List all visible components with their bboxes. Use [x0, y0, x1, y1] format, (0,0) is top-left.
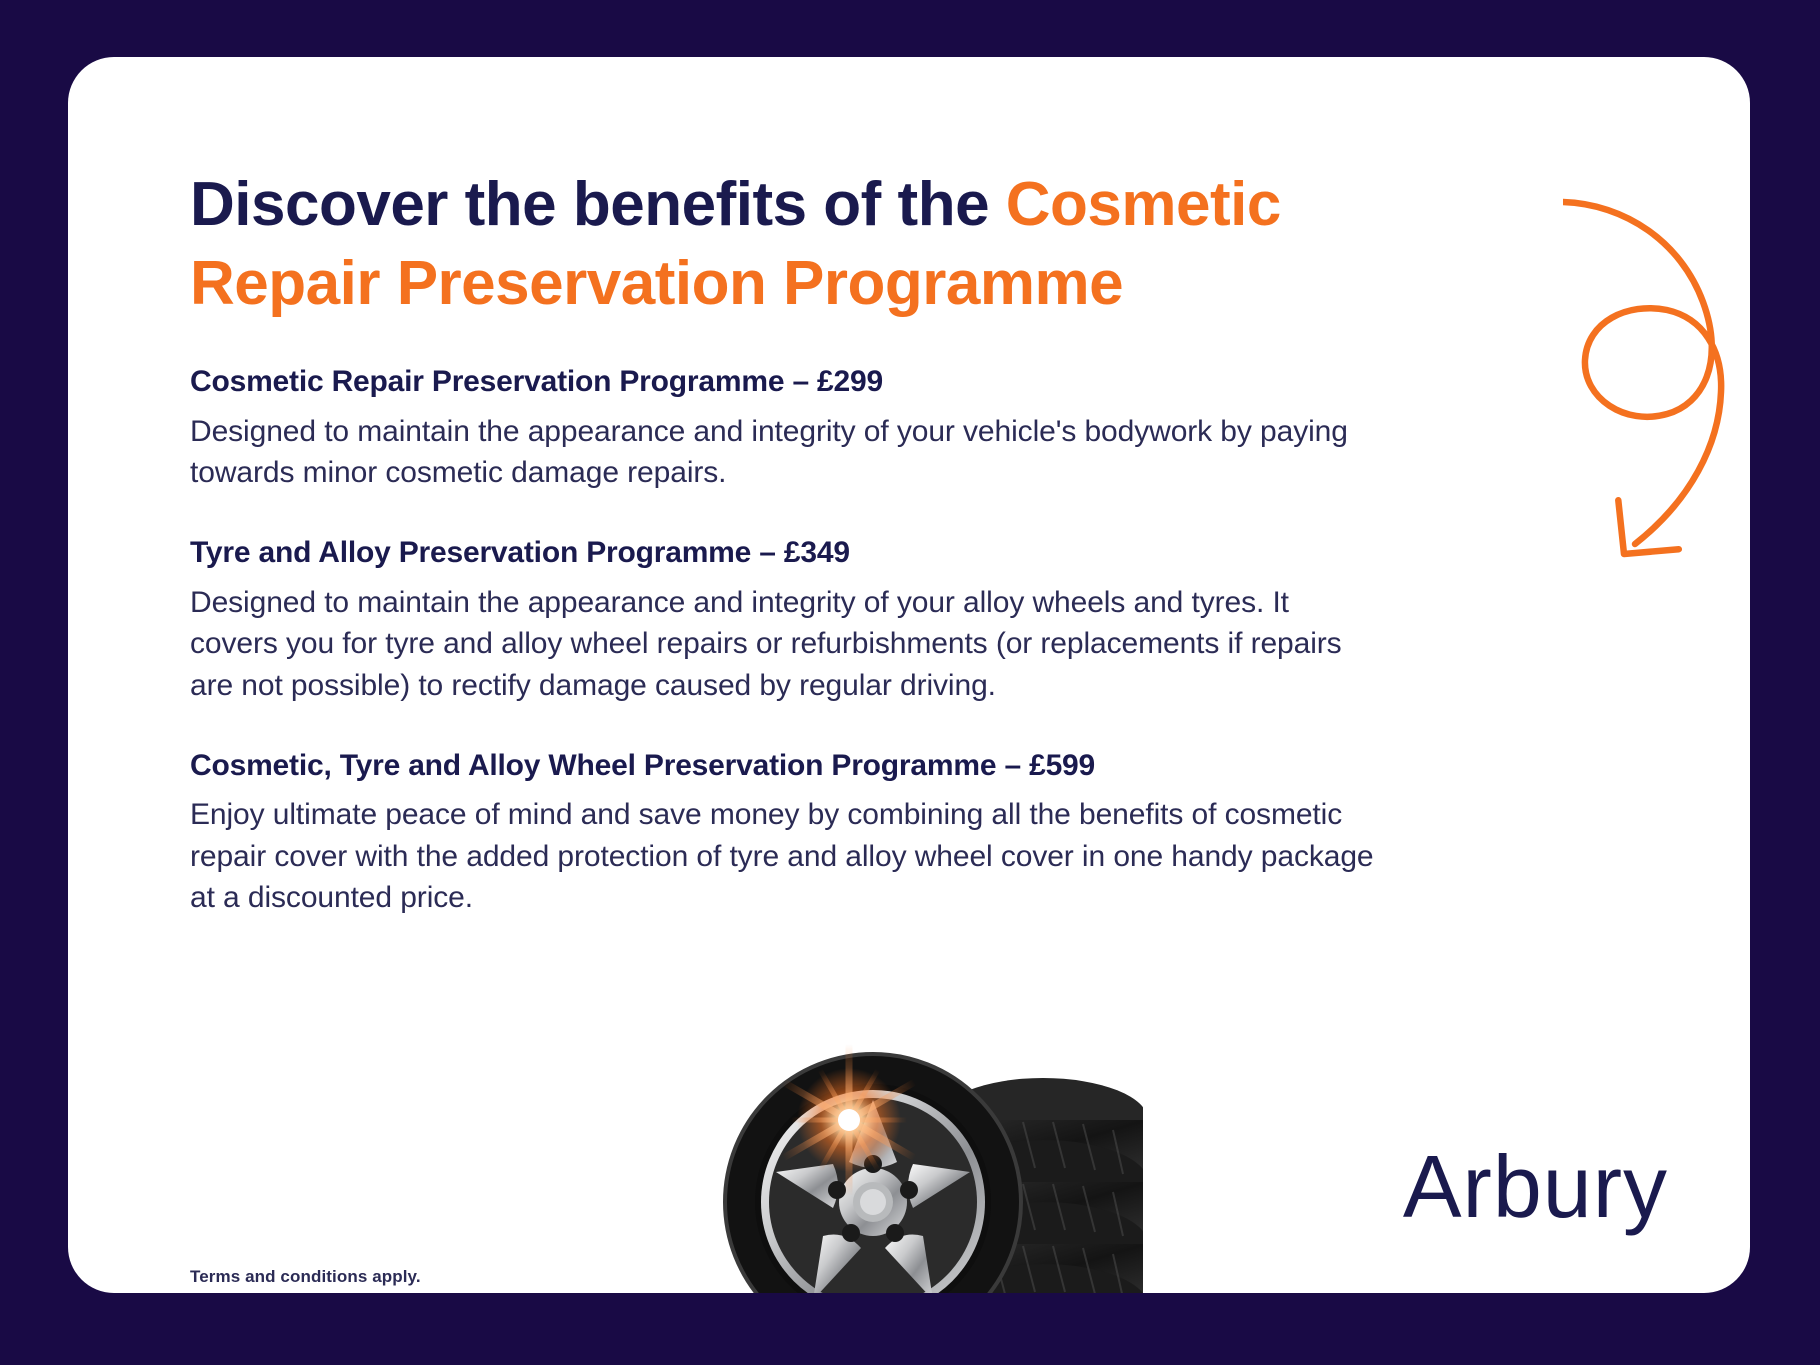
programme-description: Designed to maintain the appearance and … — [190, 411, 1380, 494]
headline-accent-word: Cosmetic — [1006, 170, 1281, 239]
curved-loop-arrow-icon — [1563, 182, 1750, 612]
programme-item: Cosmetic, Tyre and Alloy Wheel Preservat… — [190, 746, 1380, 919]
programme-title: Tyre and Alloy Preservation Programme – … — [190, 533, 1380, 574]
headline-plain-text: Discover the benefits of the — [190, 170, 1006, 239]
programme-title: Cosmetic Repair Preservation Programme –… — [190, 362, 1380, 403]
programme-item: Cosmetic Repair Preservation Programme –… — [190, 362, 1380, 493]
programme-description: Designed to maintain the appearance and … — [190, 582, 1380, 706]
programme-list: Cosmetic Repair Preservation Programme –… — [190, 362, 1380, 919]
headline-accent-line: Repair Preservation Programme — [190, 249, 1123, 318]
programme-item: Tyre and Alloy Preservation Programme – … — [190, 533, 1380, 706]
promo-card: Discover the benefits of the Cosmetic Re… — [68, 57, 1750, 1293]
programme-description: Enjoy ultimate peace of mind and save mo… — [190, 794, 1380, 918]
terms-and-conditions: Terms and conditions apply. — [190, 1267, 421, 1287]
poster-canvas: Discover the benefits of the Cosmetic Re… — [0, 0, 1820, 1365]
programme-title: Cosmetic, Tyre and Alloy Wheel Preservat… — [190, 746, 1380, 787]
page-title: Discover the benefits of the Cosmetic Re… — [190, 165, 1370, 324]
arbury-logo: Arbury — [1403, 1143, 1668, 1231]
tyre-stack-image — [713, 1042, 1143, 1293]
